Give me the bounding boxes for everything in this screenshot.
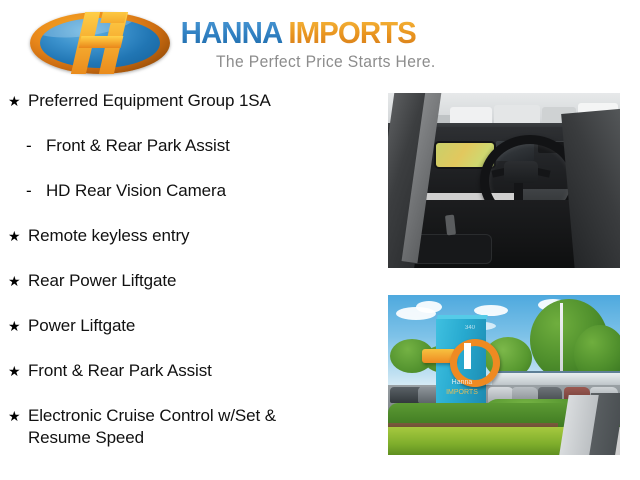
list-item: ★ Remote keyless entry [0,225,372,247]
brand-wordmark-imports: IMPORTS [288,16,416,50]
brand-wordmark-hanna: HANNA [181,16,283,50]
dash-bullet-icon: - [26,180,46,202]
list-item: - Front & Rear Park Assist [0,135,372,157]
list-item-label: Remote keyless entry [28,225,189,247]
star-bullet-icon: ★ [8,315,28,337]
steering-wheel-hub [504,161,538,183]
list-item: ★ Front & Rear Park Assist [0,360,372,382]
hanna-imports-oval-logo [30,12,170,74]
list-item: ★ Electronic Cruise Control w/Set & Resu… [0,405,372,449]
grass [388,427,574,455]
vehicle-features-list: ★ Preferred Equipment Group 1SA - Front … [0,90,372,472]
sign-logo-h-icon [464,343,471,369]
list-item-label: Front & Rear Park Assist [28,360,212,382]
star-bullet-icon: ★ [8,270,28,292]
star-bullet-icon: ★ [8,225,28,247]
list-item-label: HD Rear Vision Camera [46,180,226,202]
steering-wheel-spoke [514,183,523,201]
star-bullet-icon: ★ [8,405,28,427]
list-item: ★ Preferred Equipment Group 1SA [0,90,372,112]
star-bullet-icon: ★ [8,360,28,382]
brand-tagline: The Perfect Price Starts Here. [216,52,436,72]
brand-wordmark: HANNAIMPORTS [178,16,419,50]
sign-text-hanna: Hanna [440,379,484,386]
list-item: - HD Rear Vision Camera [0,180,372,202]
list-item-label: Preferred Equipment Group 1SA [28,90,271,112]
list-item: ★ Rear Power Liftgate [0,270,372,292]
dash-bullet-icon: - [26,135,46,157]
cloud [416,301,442,313]
brand-header: HANNAIMPORTS The Perfect Price Starts He… [0,0,640,86]
dealership-exterior-photo: 340 Hanna IMPORTS [388,295,620,455]
logo-h-monogram-icon [40,12,160,74]
sign-text-imports: IMPORTS [440,389,484,396]
list-item: ★ Power Liftgate [0,315,372,337]
sign-address-number: 340 [458,325,482,331]
star-bullet-icon: ★ [8,90,28,112]
brake-pedal [445,215,456,236]
vehicle-interior-photo [388,93,620,268]
list-item-label: Power Liftgate [28,315,135,337]
list-item-label: Front & Rear Park Assist [46,135,230,157]
list-item-label: Rear Power Liftgate [28,270,176,292]
list-item-label: Electronic Cruise Control w/Set & Resume… [28,405,304,449]
